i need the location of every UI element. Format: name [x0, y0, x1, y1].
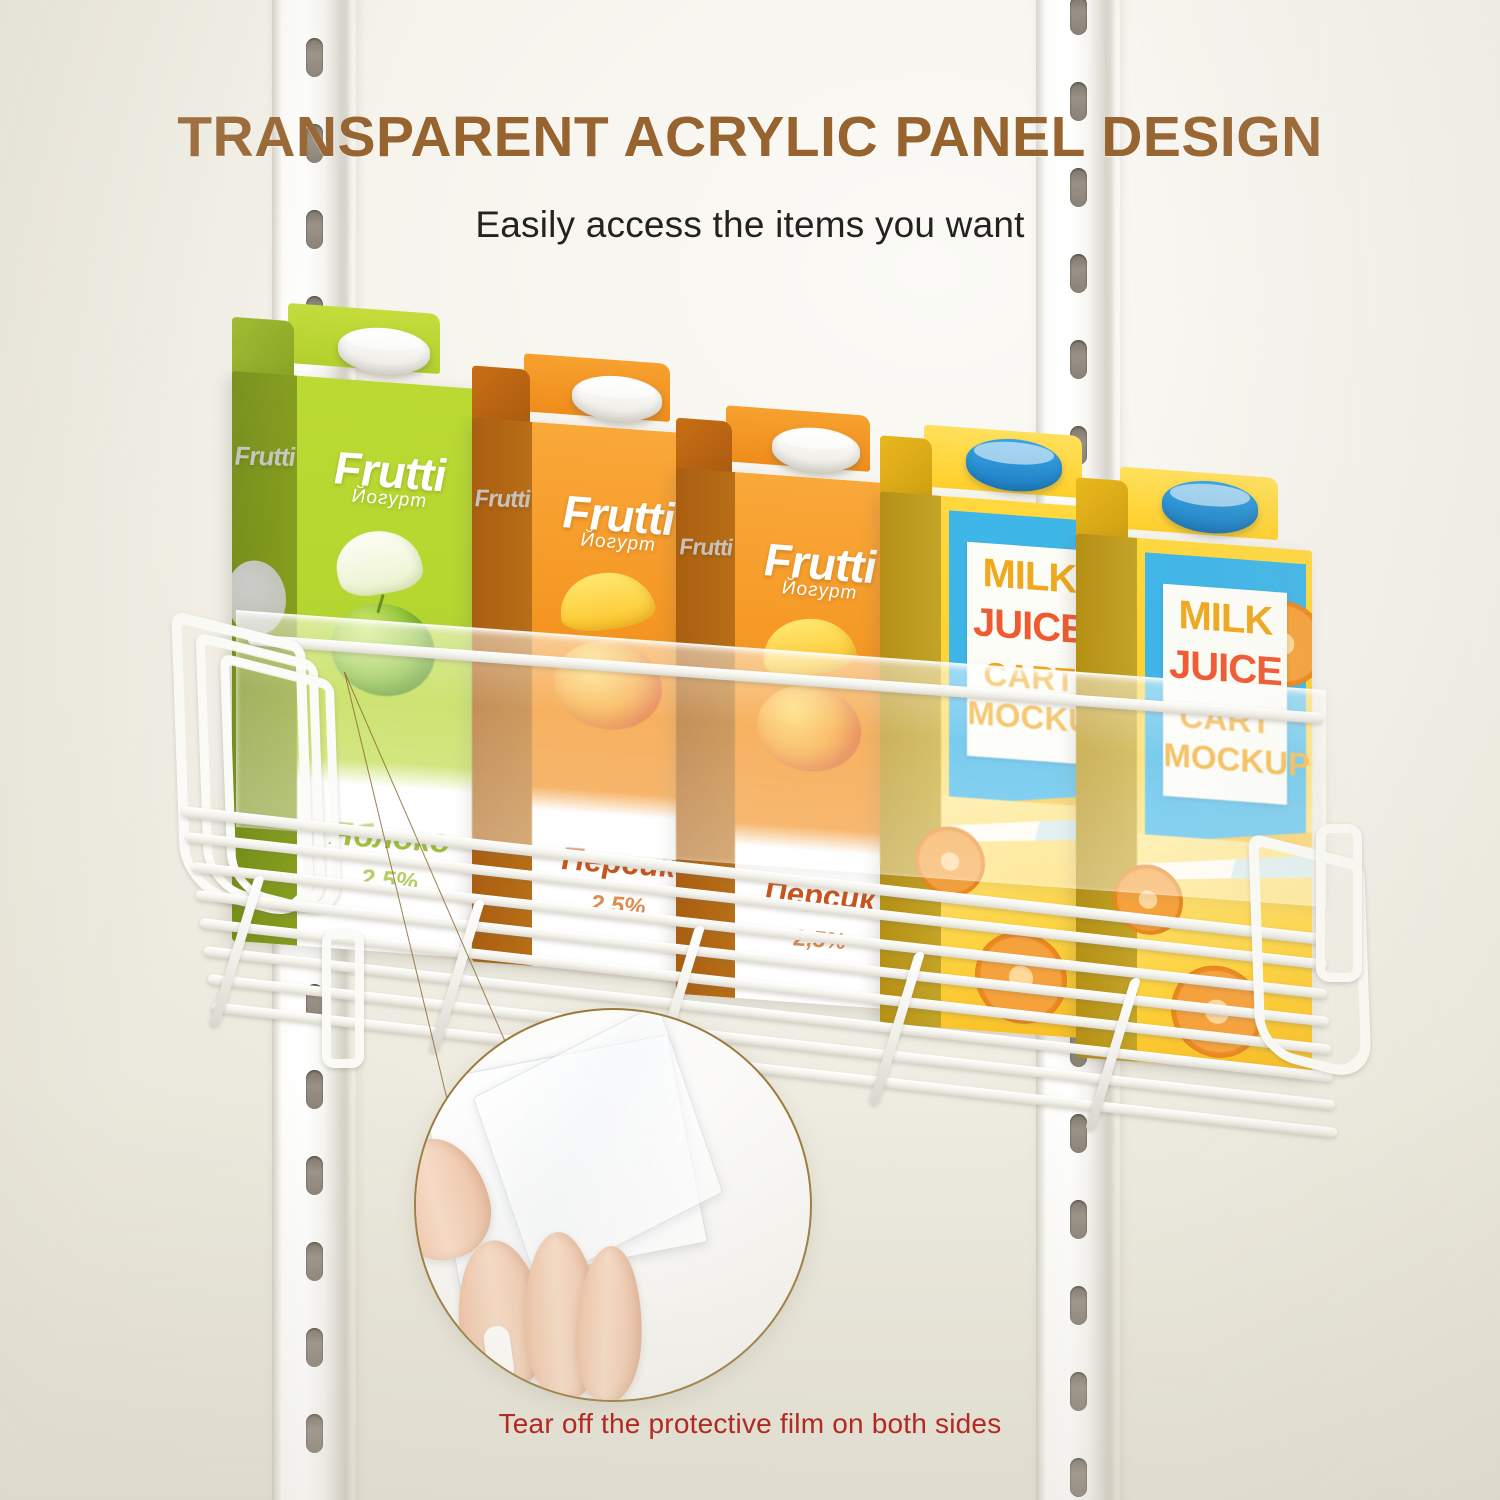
- callout-caption: Tear off the protective film on both sid…: [0, 1408, 1500, 1440]
- carton-line1: MILK: [967, 550, 1091, 604]
- callout-circle: [414, 1008, 812, 1402]
- carton-brand-side: Frutti: [232, 440, 298, 472]
- carton-line1: MILK: [1163, 592, 1287, 646]
- carton-brand-side: Frutti: [472, 485, 533, 514]
- carton-line2: JUICE: [967, 600, 1091, 654]
- shelf-scene: Frutti Frutti Йогурт Яблоко 2,5%: [0, 0, 1500, 1500]
- carton-brand-side: Frutti: [676, 533, 736, 561]
- product-marketing-image: TRANSPARENT ACRYLIC PANEL DESIGN Easily …: [0, 0, 1500, 1500]
- basket-mount-hook-right: [1316, 824, 1362, 982]
- basket-mount-hook-left: [322, 930, 364, 1068]
